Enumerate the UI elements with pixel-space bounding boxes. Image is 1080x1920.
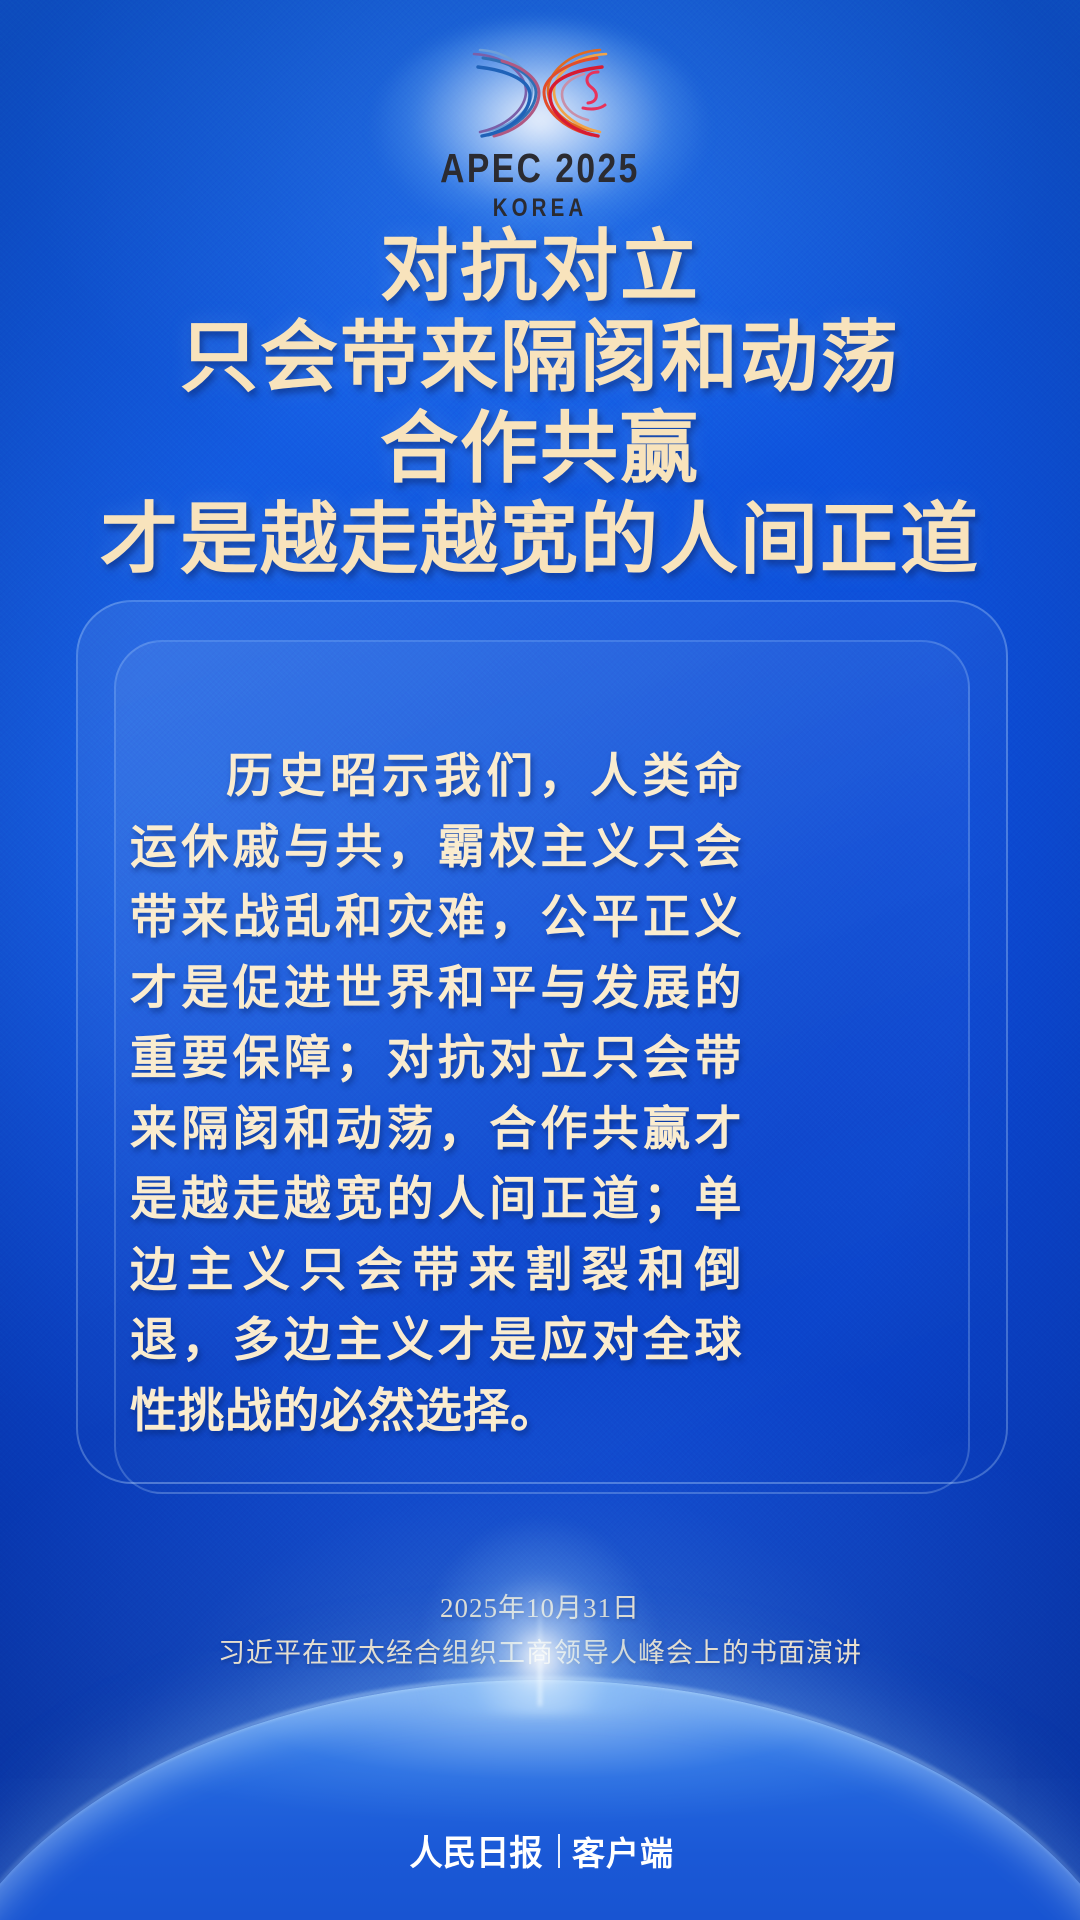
brand-divider xyxy=(558,1834,560,1868)
poster-canvas: APEC 2025 KOREA 对抗对立 只会带来隔阂和动荡 合作共赢 才是越走… xyxy=(0,0,1080,1920)
apec-logo-block: APEC 2025 KOREA xyxy=(0,26,1080,221)
app-label: 客户端 xyxy=(572,1827,674,1875)
quote-paragraph: 历史昭示我们，人类命运休戚与共，霸权主义只会带来战乱和灾难，公平正义才是促进世界… xyxy=(130,742,742,1447)
logo-title: APEC 2025 xyxy=(97,148,983,189)
footer-brand: 人民日报 客户端 xyxy=(0,1825,1080,1876)
logo-subtitle: KOREA xyxy=(97,196,983,221)
headline: 对抗对立 只会带来隔阂和动荡 合作共赢 才是越走越宽的人间正道 xyxy=(0,228,1080,592)
sun-flare-icon xyxy=(415,1514,665,1714)
apec-emblem-icon xyxy=(450,34,630,144)
headline-line-4: 才是越走越宽的人间正道 xyxy=(0,501,1080,579)
headline-line-3: 合作共赢 xyxy=(0,410,1080,488)
peoples-daily-logo: 人民日报 xyxy=(409,1825,542,1876)
headline-line-1: 对抗对立 xyxy=(0,228,1080,306)
headline-line-2: 只会带来隔阂和动荡 xyxy=(0,319,1080,397)
